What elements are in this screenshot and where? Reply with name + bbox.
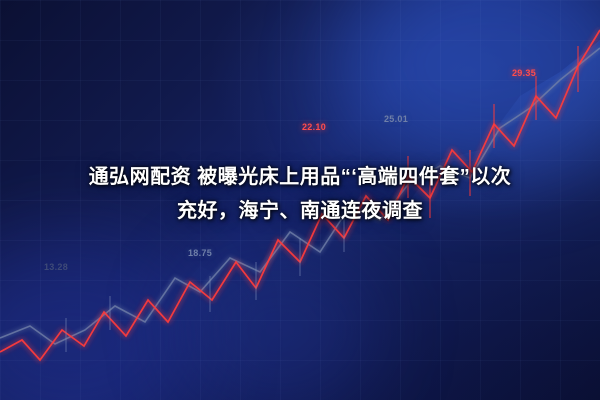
headline-line-1: 通弘网配资 被曝光床上用品“‘高端四件套”以次	[14, 160, 586, 194]
promo-image: 22.10 25.01 29.35 18.75 13.28 通弘网配资 被曝光床…	[0, 0, 600, 400]
headline-text: 通弘网配资 被曝光床上用品“‘高端四件套”以次 充好，海宁、南通连夜调查	[0, 160, 600, 228]
headline-line-2: 充好，海宁、南通连夜调查	[14, 194, 586, 228]
